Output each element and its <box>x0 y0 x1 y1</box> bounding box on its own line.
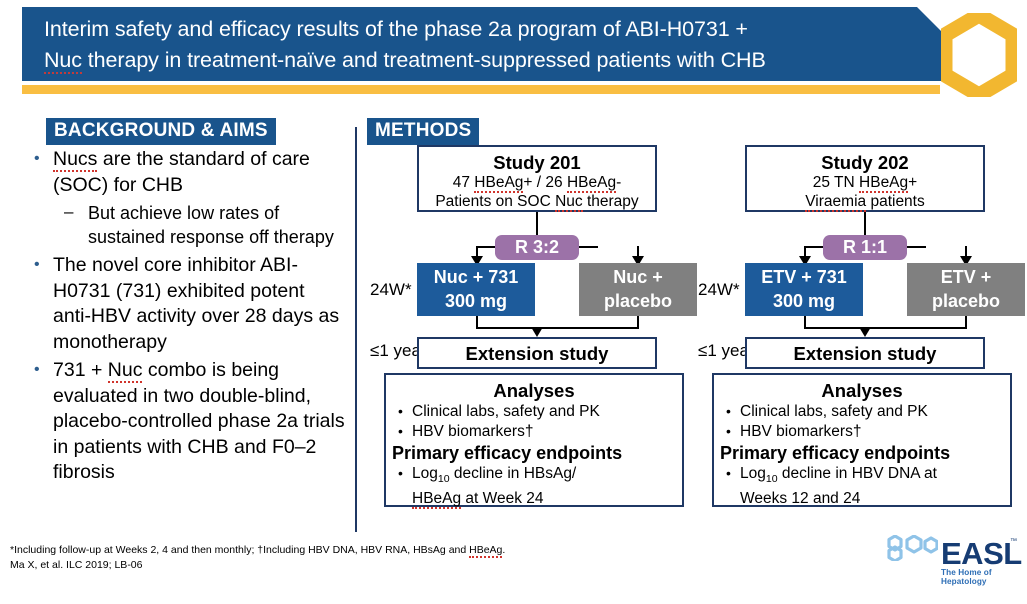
study-title: Study 201 <box>419 152 655 173</box>
primary-endpoints-header: Primary efficacy endpoints <box>720 442 1004 464</box>
study-population-box: Study 202 25 TN HBeAg+ Viraemia patients <box>745 145 985 212</box>
log-label: Log <box>412 465 438 482</box>
arm-line-2: placebo <box>579 289 697 313</box>
slide-canvas: Interim safety and efficacy results of t… <box>0 0 1027 604</box>
list-item-text: But achieve low rates of sustained respo… <box>88 203 334 247</box>
arrow-down-icon-merge <box>531 327 543 337</box>
footnote-citation: Ma X, et al. ILC 2019; LB-06 <box>10 558 610 573</box>
term-hbeag-2: HBeAg <box>567 174 616 193</box>
pop-a: 25 TN <box>813 174 859 191</box>
title-nuc-term: Nuc <box>44 48 82 74</box>
endpoint-text: decline in HBsAg/ <box>450 465 577 482</box>
connector-merge <box>476 327 639 329</box>
extension-study-box: Extension study <box>745 337 985 369</box>
pop-b: + / 26 <box>523 174 567 191</box>
analyses-box: Analyses Clinical labs, safety and PK HB… <box>384 373 684 507</box>
analyses-title: Analyses <box>392 379 676 402</box>
term-hbeag: HBeAg <box>859 174 908 193</box>
randomisation-badge: R 3:2 <box>495 235 579 260</box>
treatment-arm-active: Nuc + 731 300 mg <box>417 263 535 316</box>
endpoint-text: decline in HBV DNA at <box>778 465 937 482</box>
term-hbeag: HBeAg <box>474 174 523 193</box>
extension-study-box: Extension study <box>417 337 657 369</box>
header-accent-bar <box>22 85 940 94</box>
study-population-line-2: Patients on SOC Nuc therapy <box>419 192 655 211</box>
pop2-b: therapy <box>583 193 639 210</box>
arm-line-2: 300 mg <box>745 289 863 313</box>
list-item: The novel core inhibitor ABI-H0731 (731)… <box>26 253 346 355</box>
title-line-1: Interim safety and efficacy results of t… <box>44 17 748 41</box>
primary-endpoint-item: Log10 decline in HBV DNA at <box>720 464 1004 489</box>
footnote-line-1: *Including follow-up at Weeks 2, 4 and t… <box>10 543 610 558</box>
arm-line-1: Nuc + <box>579 265 697 289</box>
section-header-background-aims: BACKGROUND & AIMS <box>46 118 276 145</box>
title-line-2: therapy in treatment-naïve and treatment… <box>82 48 766 72</box>
list-item-text-pre: 731 + <box>53 359 108 381</box>
analyses-item: Clinical labs, safety and PK <box>720 402 1004 422</box>
primary-endpoints-header: Primary efficacy endpoints <box>392 442 676 464</box>
time-label-treatment: 24W* <box>698 280 740 300</box>
analyses-item: HBV biomarkers† <box>392 422 676 442</box>
endpoint-text-2: at Week 24 <box>461 490 543 507</box>
arm-line-1: ETV + 731 <box>745 265 863 289</box>
analyses-box: Analyses Clinical labs, safety and PK HB… <box>712 373 1012 507</box>
primary-endpoint-continuation: Weeks 12 and 24 <box>720 489 1004 509</box>
pop-c: - <box>616 174 621 191</box>
treatment-arm-active: ETV + 731 300 mg <box>745 263 863 316</box>
connector-merge <box>804 327 967 329</box>
list-item-text: The novel core inhibitor ABI-H0731 (731)… <box>53 254 339 353</box>
term-nucs: Nucs <box>53 148 97 172</box>
term-hbeag: HBeAg <box>412 490 461 509</box>
term-hbeag: HBeAg <box>469 544 502 558</box>
study-population-box: Study 201 47 HBeAg+ / 26 HBeAg- Patients… <box>417 145 657 212</box>
treatment-arm-placebo: Nuc + placebo <box>579 263 697 316</box>
top-white-edge <box>0 0 1027 3</box>
arm-line-2: 300 mg <box>417 289 535 313</box>
footnotes: *Including follow-up at Weeks 2, 4 and t… <box>10 543 610 572</box>
connector-vertical <box>864 212 866 235</box>
primary-endpoint-item: Log10 decline in HBsAg/ <box>392 464 676 489</box>
analyses-item: HBV biomarkers† <box>720 422 1004 442</box>
analyses-title: Analyses <box>720 379 1004 402</box>
arrow-down-icon-merge <box>859 327 871 337</box>
time-label-treatment: 24W* <box>370 280 412 300</box>
easl-tagline: The Home of Hepatology <box>941 568 1021 586</box>
arm-line-2: placebo <box>907 289 1025 313</box>
list-item: 731 + Nuc combo is being evaluated in tw… <box>26 358 346 486</box>
analyses-item: Clinical labs, safety and PK <box>392 402 676 422</box>
study-population-line-1: 25 TN HBeAg+ <box>747 173 983 192</box>
column-divider <box>355 127 357 532</box>
page-title: Interim safety and efficacy results of t… <box>44 14 924 76</box>
footnote-text-a: *Including follow-up at Weeks 2, 4 and t… <box>10 544 469 556</box>
log-subscript: 10 <box>766 473 778 485</box>
randomisation-badge: R 1:1 <box>823 235 907 260</box>
easl-logo: EASL ™ The Home of Hepatology <box>886 535 1021 591</box>
treatment-arm-placebo: ETV + placebo <box>907 263 1025 316</box>
study-population-line-2: Viraemia patients <box>747 192 983 211</box>
pop-a: 47 <box>453 174 475 191</box>
study-title: Study 202 <box>747 152 983 173</box>
easl-hexagon-mark-icon <box>886 535 938 561</box>
list-item: But achieve low rates of sustained respo… <box>26 201 346 249</box>
list-item: Nucs are the standard of care (SOC) for … <box>26 147 346 198</box>
footnote-text-b: . <box>502 544 505 556</box>
connector-vertical <box>536 212 538 235</box>
endpoint-text-2: Weeks 12 and 24 <box>740 490 860 507</box>
trademark-symbol: ™ <box>1010 538 1017 545</box>
arm-line-1: Nuc + 731 <box>417 265 535 289</box>
primary-endpoint-continuation: HBeAg at Week 24 <box>392 489 676 509</box>
background-aims-list: Nucs are the standard of care (SOC) for … <box>26 147 346 489</box>
log-label: Log <box>740 465 766 482</box>
section-header-methods: METHODS <box>367 118 479 145</box>
pop-b: + <box>908 174 917 191</box>
log-subscript: 10 <box>438 473 450 485</box>
pop2-a: Patients on SOC <box>435 193 555 210</box>
term-viraemia: Viraemia <box>805 193 866 212</box>
pop2-b: patients <box>866 193 925 210</box>
term-nuc: Nuc <box>108 359 143 383</box>
hexagon-logo-icon <box>941 13 1017 97</box>
study-population-line-1: 47 HBeAg+ / 26 HBeAg- <box>419 173 655 192</box>
term-nuc: Nuc <box>555 193 583 212</box>
arm-line-1: ETV + <box>907 265 1025 289</box>
